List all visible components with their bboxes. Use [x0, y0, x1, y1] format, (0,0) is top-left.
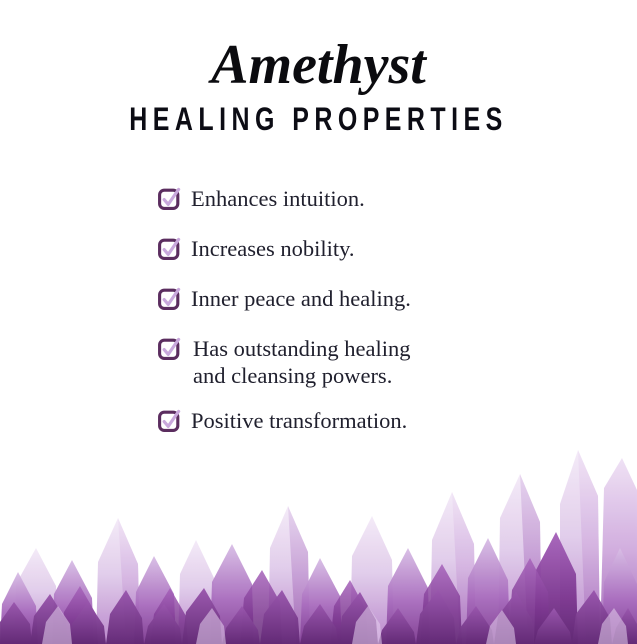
healing-properties-list: Enhances intuition. Increases nobility. …: [158, 185, 578, 457]
list-item: Positive transformation.: [158, 407, 578, 434]
checkbox-checked-icon: [158, 189, 179, 210]
page-title: Amethyst: [0, 34, 637, 96]
list-item: Enhances intuition.: [158, 185, 578, 212]
amethyst-healing-properties-poster: Amethyst HEALING PROPERTIES Enhances int…: [0, 0, 637, 644]
list-item-label: Enhances intuition.: [191, 185, 365, 212]
list-item: Increases nobility.: [158, 235, 578, 262]
header: Amethyst HEALING PROPERTIES: [0, 34, 637, 136]
checkbox-checked-icon: [158, 411, 179, 432]
checkbox-checked-icon: [158, 289, 179, 310]
checkbox-checked-icon: [158, 239, 179, 260]
list-item-label: Increases nobility.: [191, 235, 355, 262]
page-subtitle: HEALING PROPERTIES: [70, 102, 567, 136]
list-item: Has outstanding healing and cleansing po…: [158, 335, 578, 389]
checkbox-checked-icon: [158, 339, 179, 360]
list-item-label: Positive transformation.: [191, 407, 407, 434]
amethyst-crystal-cluster: [0, 444, 637, 644]
list-item-label: Has outstanding healing and cleansing po…: [191, 335, 410, 389]
list-item: Inner peace and healing.: [158, 285, 578, 312]
list-item-label: Inner peace and healing.: [191, 285, 411, 312]
